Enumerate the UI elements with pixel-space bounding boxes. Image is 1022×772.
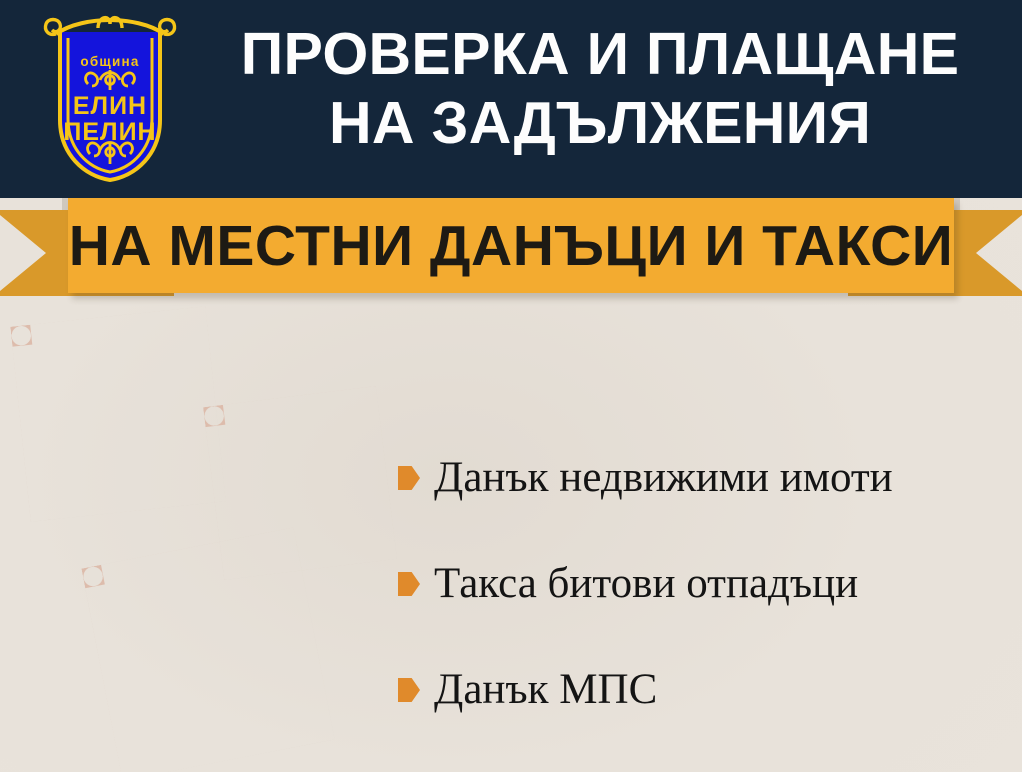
- header-band: община ЕЛИН ПЕЛИН: [0, 0, 1022, 198]
- page-title: ПРОВЕРКА И ПЛАЩАНЕ НА ЗАДЪЛЖЕНИЯ: [190, 20, 1010, 158]
- stamp-card-trash: [203, 386, 397, 580]
- ribbon-label: НА МЕСТНИ ДАНЪЦИ И ТАКСИ: [69, 213, 954, 279]
- list-item[interactable]: Данък МПС: [398, 636, 1018, 742]
- list-item-label: Такса битови отпадъци: [434, 562, 858, 605]
- coat-of-arms-icon: община ЕЛИН ПЕЛИН: [40, 8, 180, 188]
- stamp-paper-house: [37, 333, 200, 496]
- ribbon-banner: НА МЕСТНИ ДАНЪЦИ И ТАКСИ: [68, 198, 954, 293]
- list-item[interactable]: Такса битови отпадъци: [398, 530, 1018, 636]
- list-item-label: Данък МПС: [434, 668, 657, 711]
- svg-text:ЕЛИН: ЕЛИН: [73, 92, 147, 120]
- list-item-label: Данък недвижими имоти: [434, 456, 893, 499]
- page-title-line2: НА ЗАДЪЛЖЕНИЯ: [190, 89, 1010, 158]
- tax-type-list: Данък недвижими имоти Такса битови отпад…: [398, 424, 1018, 742]
- list-item[interactable]: Данък недвижими имоти: [398, 424, 1018, 530]
- svg-text:община: община: [80, 54, 139, 69]
- bullet-arrow-icon: [398, 572, 420, 596]
- stamp-card-house: [10, 306, 225, 521]
- trash-bin-icon: [245, 425, 355, 540]
- page-title-line1: ПРОВЕРКА И ПЛАЩАНЕ: [241, 21, 960, 87]
- subtitle-ribbon: НА МЕСТНИ ДАНЪЦИ И ТАКСИ: [0, 198, 1022, 308]
- bullet-arrow-icon: [398, 466, 420, 490]
- bullet-arrow-icon: [398, 678, 420, 702]
- car-front-icon: [135, 589, 281, 719]
- house-icon: [58, 356, 178, 473]
- stamp-paper-car: [112, 558, 304, 750]
- poster-canvas: община ЕЛИН ПЕЛИН: [0, 0, 1022, 772]
- municipality-logo: община ЕЛИН ПЕЛИН: [40, 8, 180, 188]
- stamp-paper-trash: [228, 411, 373, 556]
